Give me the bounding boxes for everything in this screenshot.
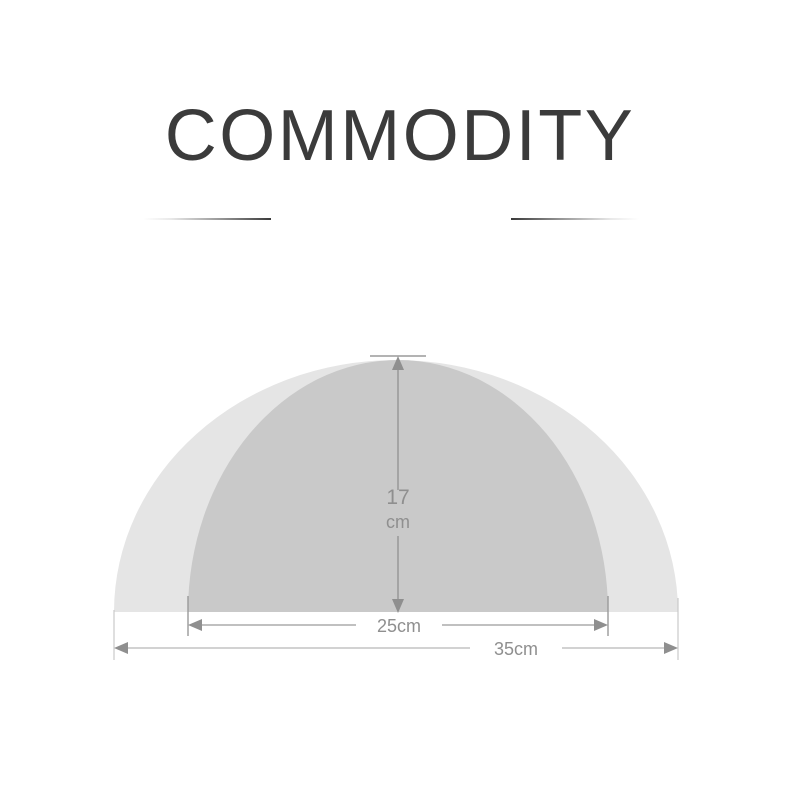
outer-arrowhead-right xyxy=(664,642,678,654)
header-block: COMMODITY xyxy=(0,0,800,250)
product-dimension-diagram: 17 cm 25cm xyxy=(0,330,800,680)
height-dimension-unit: cm xyxy=(386,512,410,532)
divider-rule-left xyxy=(143,218,271,220)
diagram-svg: 17 cm 25cm xyxy=(0,330,800,680)
outer-arrowhead-left xyxy=(114,642,128,654)
divider-rule-right xyxy=(511,218,639,220)
page-title: COMMODITY xyxy=(0,98,800,174)
inner-arrowhead-left xyxy=(188,619,202,631)
outer-width-label: 35cm xyxy=(494,639,538,659)
product-image-canvas: COMMODITY 1 xyxy=(0,0,800,800)
title-divider xyxy=(0,218,800,224)
inner-width-label: 25cm xyxy=(377,616,421,636)
height-dimension-value: 17 xyxy=(386,486,409,509)
inner-arrowhead-right xyxy=(594,619,608,631)
